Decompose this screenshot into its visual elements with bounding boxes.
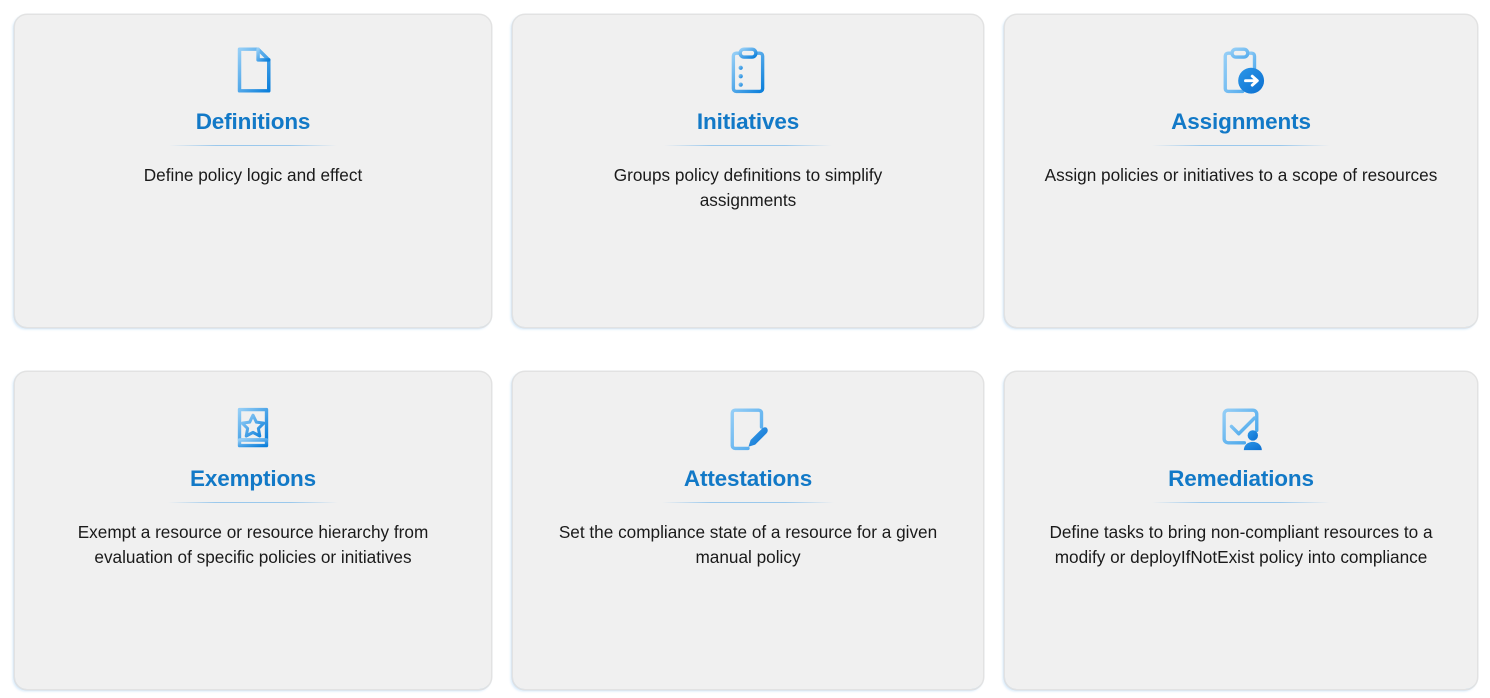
card-assignments[interactable]: Assignments Assign policies or initiativ… — [1004, 14, 1478, 328]
card-title: Exemptions — [190, 467, 316, 492]
title-divider — [664, 145, 832, 147]
title-divider — [169, 145, 337, 147]
card-title: Assignments — [1171, 110, 1311, 135]
card-description: Define tasks to bring non-compliant reso… — [1029, 520, 1454, 570]
notepad-pencil-icon — [721, 400, 775, 454]
card-title: Definitions — [196, 110, 311, 135]
title-divider — [662, 502, 834, 504]
title-divider — [1152, 502, 1330, 504]
card-description: Set the compliance state of a resource f… — [548, 520, 948, 570]
clipboard-arrow-icon — [1214, 43, 1268, 97]
card-remediations[interactable]: Remediations Define tasks to bring non-c… — [1004, 371, 1478, 690]
checkbox-person-icon — [1214, 400, 1268, 454]
card-attestations[interactable]: Attestations Set the compliance state of… — [512, 371, 984, 690]
card-definitions[interactable]: Definitions Define policy logic and effe… — [14, 14, 492, 328]
card-title: Initiatives — [697, 110, 799, 135]
card-title: Attestations — [684, 467, 812, 492]
card-initiatives[interactable]: Initiatives Groups policy definitions to… — [512, 14, 984, 328]
clipboard-list-icon — [721, 43, 775, 97]
card-description: Exempt a resource or resource hierarchy … — [43, 520, 463, 570]
title-divider — [168, 502, 338, 504]
book-star-icon — [226, 400, 280, 454]
card-description: Define policy logic and effect — [144, 163, 362, 188]
card-description: Groups policy definitions to simplify as… — [578, 163, 918, 213]
card-description: Assign policies or initiatives to a scop… — [1045, 163, 1438, 188]
card-grid: Definitions Define policy logic and effe… — [0, 0, 1490, 698]
card-exemptions[interactable]: Exemptions Exempt a resource or resource… — [14, 371, 492, 690]
title-divider — [1152, 145, 1330, 147]
card-title: Remediations — [1168, 467, 1314, 492]
document-icon — [226, 43, 280, 97]
